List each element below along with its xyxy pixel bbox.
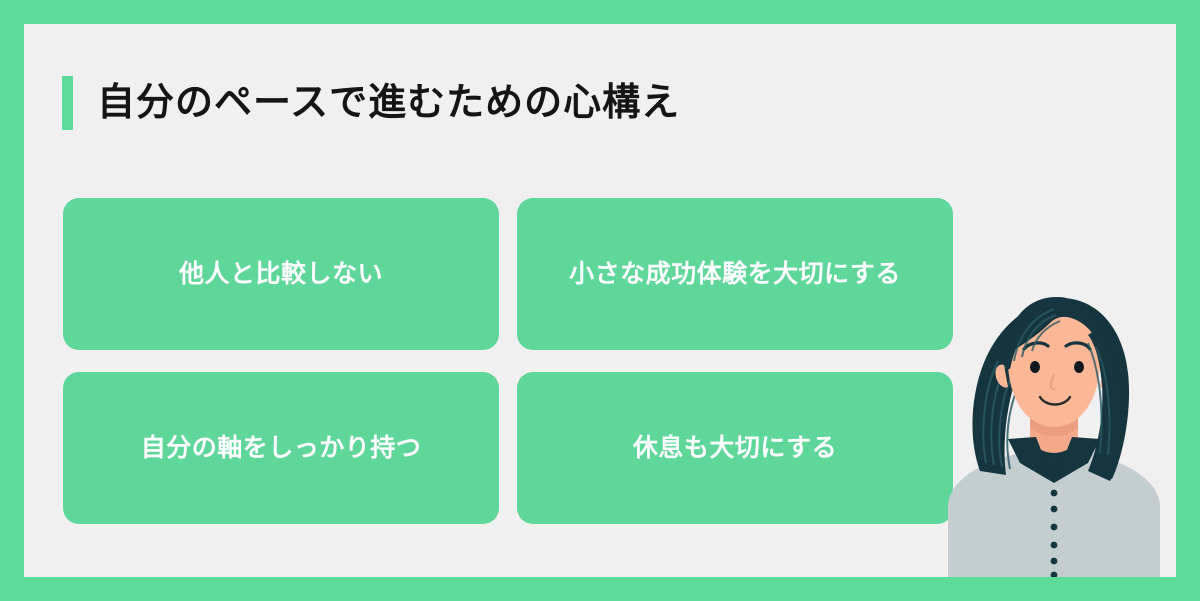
page-title: 自分のペースで進むための心構え xyxy=(62,76,680,130)
mindset-card-grid: 他人と比較しない 小さな成功体験を大切にする 自分の軸をしっかり持つ 休息も大切… xyxy=(63,198,953,524)
mindset-card-4[interactable]: 休息も大切にする xyxy=(517,372,953,524)
slide-content-area: 自分のペースで進むための心構え 他人と比較しない 小さな成功体験を大切にする 自… xyxy=(24,24,1176,577)
title-label: 自分のペースで進むための心構え xyxy=(97,84,680,122)
mindset-card-2-label: 小さな成功体験を大切にする xyxy=(569,259,901,289)
mindset-card-1-label: 他人と比較しない xyxy=(179,259,383,289)
mindset-card-1[interactable]: 他人と比較しない xyxy=(63,198,499,350)
smiling-woman-illustration xyxy=(936,257,1176,577)
mindset-card-4-label: 休息も大切にする xyxy=(633,433,837,463)
mindset-card-2[interactable]: 小さな成功体験を大切にする xyxy=(517,198,953,350)
mindset-card-3-label: 自分の軸をしっかり持つ xyxy=(141,433,422,463)
slide-root: 自分のペースで進むための心構え 他人と比較しない 小さな成功体験を大切にする 自… xyxy=(0,0,1200,601)
title-accent-bar xyxy=(62,76,73,130)
mindset-card-3[interactable]: 自分の軸をしっかり持つ xyxy=(63,372,499,524)
